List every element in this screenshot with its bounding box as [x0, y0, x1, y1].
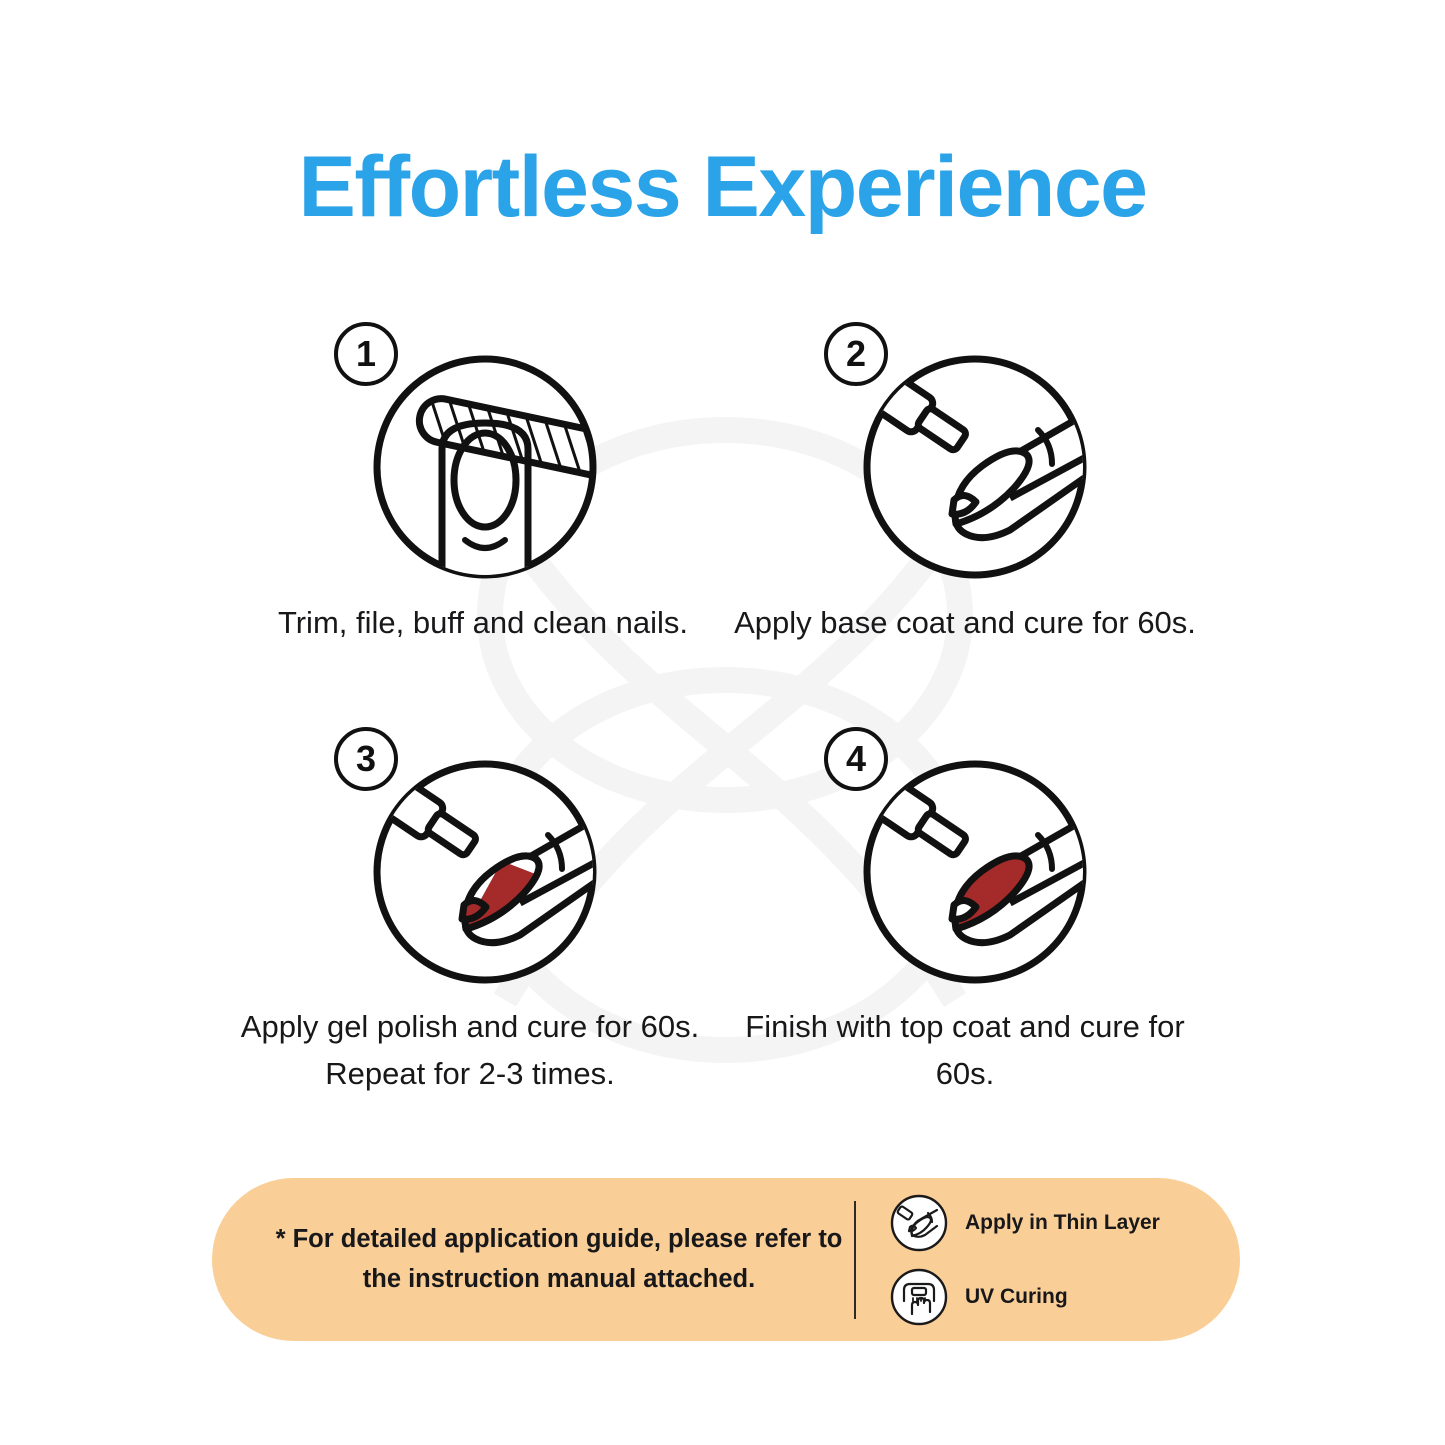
step-1: 1: [330, 322, 630, 582]
uv-curing-lamp-icon: [890, 1268, 948, 1326]
step-2-figure: 2: [820, 322, 1120, 582]
infographic-page: Effortless Experience 1: [0, 0, 1445, 1445]
badge-apply-thin-layer-label: Apply in Thin Layer: [965, 1211, 1160, 1235]
badge-uv-curing: UV Curing: [890, 1268, 1240, 1326]
step-4-figure: 4: [820, 727, 1120, 987]
step-3-caption: Apply gel polish and cure for 60s. Repea…: [235, 1004, 705, 1097]
brush-top-coat-full-icon: [860, 757, 1090, 987]
step-4-number-badge: 4: [824, 727, 888, 791]
step-2-number-badge: 2: [824, 322, 888, 386]
step-4-caption: Finish with top coat and cure for 60s.: [730, 1004, 1200, 1097]
step-4: 4: [820, 727, 1120, 987]
banner-badge-list: Apply in Thin Layer: [856, 1194, 1240, 1326]
step-1-number-badge: 1: [334, 322, 398, 386]
step-1-caption: Trim, file, buff and clean nails.: [248, 600, 718, 647]
banner-note-text: * For detailed application guide, please…: [212, 1220, 844, 1299]
page-title: Effortless Experience: [0, 140, 1445, 235]
step-2: 2: [820, 322, 1120, 582]
step-2-caption: Apply base coat and cure for 60s.: [730, 600, 1200, 647]
brush-gel-polish-partial-icon: [370, 757, 600, 987]
badge-apply-thin-layer: Apply in Thin Layer: [890, 1194, 1240, 1252]
step-3-figure: 3: [330, 727, 630, 987]
apply-thin-layer-icon: [890, 1194, 948, 1252]
step-3: 3: [330, 727, 630, 987]
brush-base-coat-icon: [860, 352, 1090, 582]
nail-file-buffing-icon: [370, 352, 600, 582]
step-1-figure: 1: [330, 322, 630, 582]
step-3-number-badge: 3: [334, 727, 398, 791]
badge-uv-curing-label: UV Curing: [965, 1285, 1068, 1309]
instruction-manual-banner: * For detailed application guide, please…: [212, 1178, 1240, 1341]
